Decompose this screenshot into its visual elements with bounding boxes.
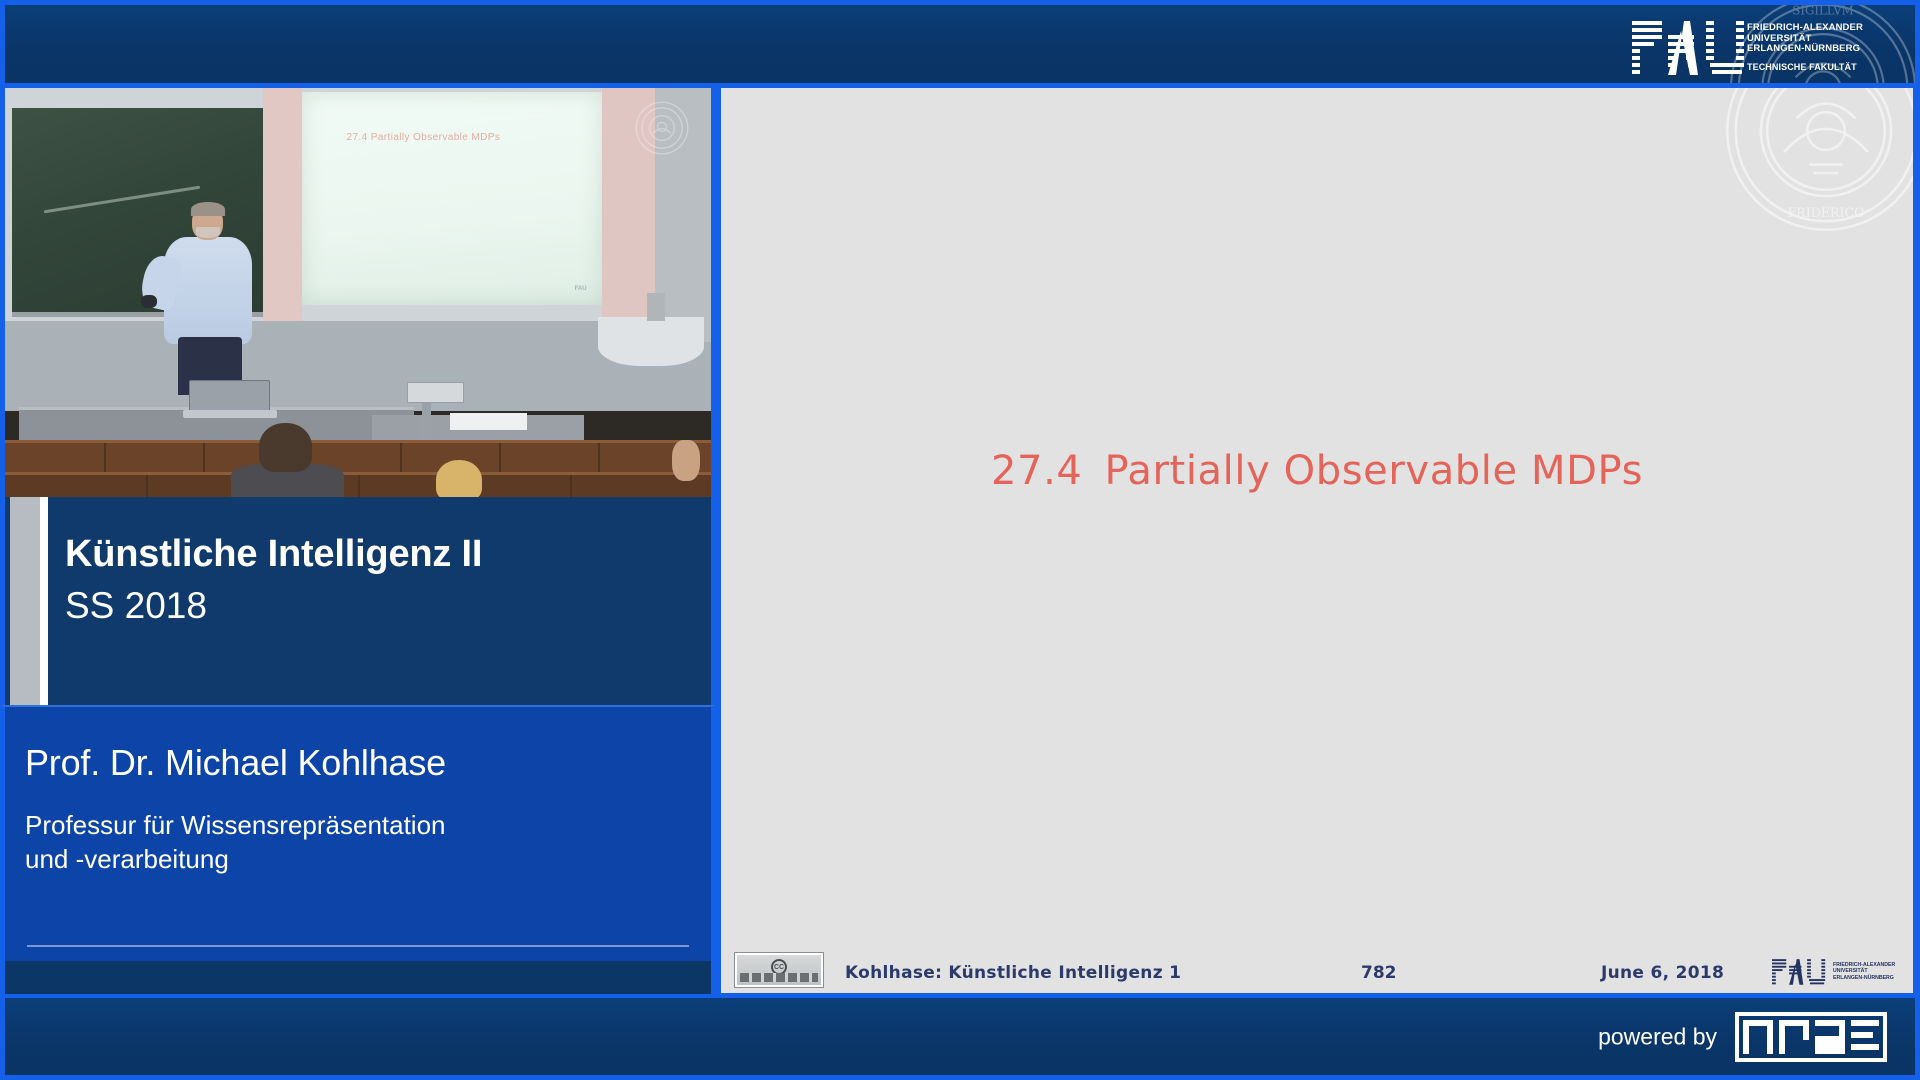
fau-logo-icon xyxy=(1772,958,1828,985)
left-column: 27.4 Partially Observable MDPs FAU xyxy=(0,83,716,998)
fau-logo-icon xyxy=(1632,19,1750,75)
title-accent-bar xyxy=(10,497,40,705)
footer-brand-line-3: ERLANGEN-NÜRNBERG xyxy=(1833,975,1899,982)
projected-slide-title: 27.4 Partially Observable MDPs xyxy=(347,132,563,143)
presenter-hair xyxy=(191,202,225,217)
video-scene: 27.4 Partially Observable MDPs FAU xyxy=(5,88,711,497)
slide-footer-page-number: 782 xyxy=(1361,963,1397,983)
presenter-info-block: Prof. Dr. Michael Kohlhase Professur für… xyxy=(0,705,716,961)
presenter-department-line-2: und -verarbeitung xyxy=(25,843,687,877)
projected-slide-logo: FAU xyxy=(575,286,587,292)
pillar-left xyxy=(263,88,302,321)
fau-wordmark: FRIEDRICH-ALEXANDER UNIVERSITÄT ERLANGEN… xyxy=(1747,23,1865,72)
brand-line-3: ERLANGEN-NÜRNBERG xyxy=(1747,44,1865,55)
slide-footer-date: June 6, 2018 xyxy=(1601,963,1724,983)
cc-badge-strip xyxy=(740,973,818,982)
university-seal-icon xyxy=(634,100,690,156)
course-title: Künstliche Intelligenz II xyxy=(65,535,691,575)
svg-text:SIGILLVM: SIGILLVM xyxy=(1792,4,1853,18)
sink xyxy=(598,317,704,366)
paper-sheet xyxy=(450,413,528,429)
slide-footer-fau-logo: FRIEDRICH-ALEXANDER UNIVERSITÄT ERLANGEN… xyxy=(1772,958,1899,985)
slide-footer-author: Kohlhase: Künstliche Intelligenz 1 xyxy=(845,963,1181,983)
audience-member xyxy=(672,440,700,481)
divider xyxy=(27,945,689,947)
header-bar: FRIEDRICH-ALEXANDER UNIVERSITÄT ERLANGEN… xyxy=(0,0,1920,88)
creative-commons-badge-icon: CC xyxy=(735,953,823,987)
audience-member xyxy=(436,460,482,501)
powered-by-label: powered by xyxy=(1598,1023,1717,1050)
rrze-logo-icon xyxy=(1735,1012,1887,1062)
slide-section-number: 27.4 xyxy=(991,448,1082,494)
presenter-figure xyxy=(164,237,252,343)
slide-section-title: Partially Observable MDPs xyxy=(1104,448,1643,494)
university-seal-icon: SIGILLVM FRIDERICO xyxy=(1721,83,1920,236)
presenter-department: Professur für Wissensrepräsentation und … xyxy=(25,809,687,877)
lecture-player-stage: FRIEDRICH-ALEXANDER UNIVERSITÄT ERLANGEN… xyxy=(0,0,1920,1080)
presenter-hand-clicker xyxy=(141,295,157,309)
svg-text:FRIDERICO: FRIDERICO xyxy=(1788,205,1865,220)
presenter-beard xyxy=(196,227,220,238)
bottom-bar: powered by xyxy=(0,994,1920,1080)
laptop xyxy=(189,380,270,411)
lecture-video[interactable]: 27.4 Partially Observable MDPs FAU xyxy=(0,83,716,502)
audience-member xyxy=(259,423,312,472)
slide-section-heading: 27.4Partially Observable MDPs xyxy=(721,448,1913,494)
projection-screen: 27.4 Partially Observable MDPs FAU xyxy=(302,92,602,305)
presenter-department-line-1: Professur für Wissensrepräsentation xyxy=(25,809,687,843)
title-text-group: Künstliche Intelligenz II SS 2018 xyxy=(65,535,691,626)
slide-footer: CC Kohlhase: Künstliche Intelligenz 1 78… xyxy=(721,929,1913,993)
brand-faculty: TECHNISCHE FAKULTÄT xyxy=(1747,62,1865,72)
course-title-block: Künstliche Intelligenz II SS 2018 xyxy=(0,497,716,705)
pipe xyxy=(647,293,665,322)
presenter-name: Prof. Dr. Michael Kohlhase xyxy=(25,742,446,784)
seat-row xyxy=(5,472,711,497)
slide-pane[interactable]: SIGILLVM FRIDERICO 27.4Partially Observa… xyxy=(716,83,1920,998)
document-camera xyxy=(407,382,463,402)
seat-row xyxy=(5,440,711,473)
course-term: SS 2018 xyxy=(65,587,691,626)
slide-footer-fau-wordmark: FRIEDRICH-ALEXANDER UNIVERSITÄT ERLANGEN… xyxy=(1833,962,1899,982)
